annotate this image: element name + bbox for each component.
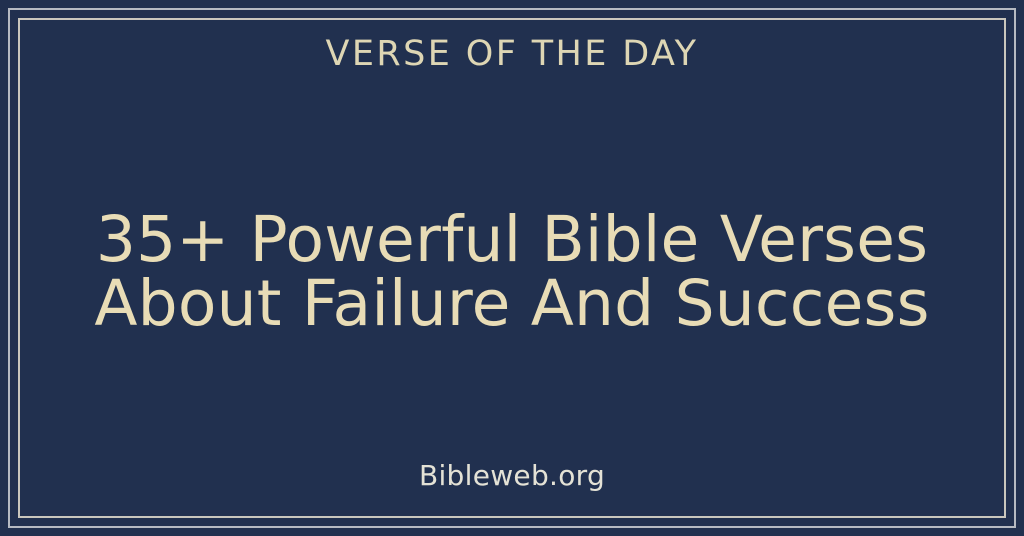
title-line-1: 35+ Powerful Bible Verses [32,208,992,272]
footer: Bibleweb.org [18,461,1006,492]
site-attribution: Bibleweb.org [419,459,605,492]
eyebrow-label: VERSE OF THE DAY [326,36,699,73]
title-line-2: About Failure And Success [32,272,992,336]
page-title: 35+ Powerful Bible Verses About Failure … [18,208,1006,337]
verse-of-the-day-card: VERSE OF THE DAY 35+ Powerful Bible Vers… [0,0,1024,536]
card-content: VERSE OF THE DAY 35+ Powerful Bible Vers… [18,18,1006,518]
